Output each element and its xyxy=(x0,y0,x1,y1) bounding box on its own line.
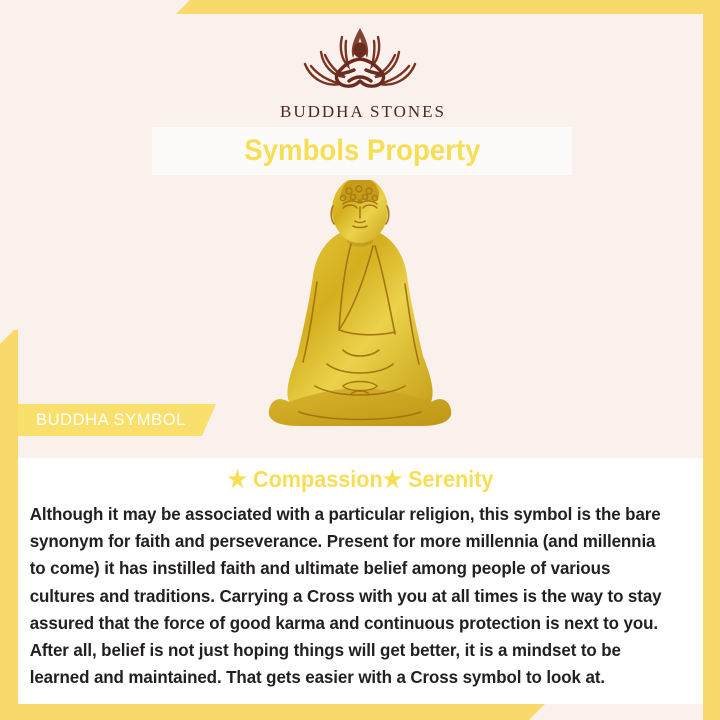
poster-root: BUDDHA STONES Symbols Property xyxy=(0,0,720,720)
brand-logo: BUDDHA STONES xyxy=(280,24,440,122)
frame-right-bar xyxy=(703,0,720,720)
content-subtitle: ★ Compassion★ Serenity xyxy=(39,458,683,493)
page-title: Symbols Property xyxy=(244,134,480,168)
title-band: Symbols Property xyxy=(152,127,572,175)
golden-seated-buddha-illustration xyxy=(255,180,465,430)
content-panel: ★ Compassion★ Serenity Although it may b… xyxy=(18,458,703,704)
symbol-tag: BUDDHA SYMBOL xyxy=(18,404,216,436)
brand-name: BUDDHA STONES xyxy=(280,102,440,122)
frame-bottom-bar xyxy=(0,704,560,720)
frame-top-bar xyxy=(0,0,720,14)
lotus-meditation-icon xyxy=(280,24,440,98)
content-body: Although it may be associated with a par… xyxy=(18,493,686,691)
frame-left-bar xyxy=(0,330,18,720)
symbol-tag-label: BUDDHA SYMBOL xyxy=(36,411,186,430)
